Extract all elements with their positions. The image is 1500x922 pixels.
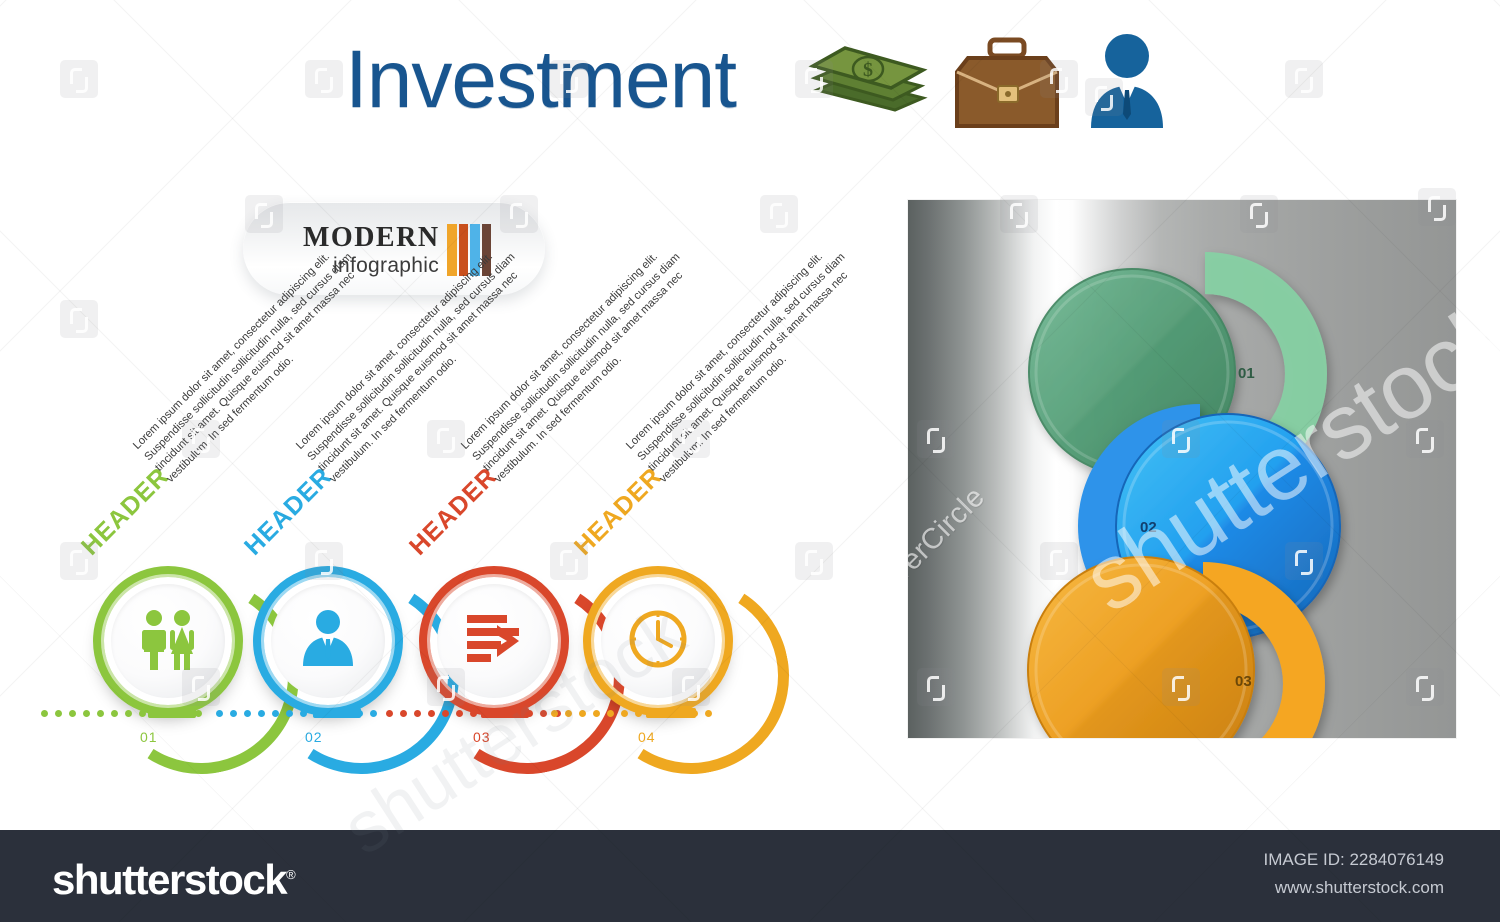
- step-dash-04: [646, 708, 696, 718]
- shutterstock-logo-text: shutterstock: [52, 856, 286, 903]
- businessman-avatar-icon: [297, 608, 359, 675]
- shutterstock-watermark-badge: [60, 300, 98, 338]
- shutterstock-watermark-badge: [760, 195, 798, 233]
- step-dotted-line-03: [386, 709, 561, 718]
- step-header-01: HEADER: [77, 463, 174, 560]
- connector-dot: [55, 710, 62, 717]
- shutterstock-url[interactable]: www.shutterstock.com: [1144, 878, 1444, 898]
- connector-dot: [216, 710, 223, 717]
- connector-dot: [386, 710, 393, 717]
- connector-dot: [414, 710, 421, 717]
- connector-dot: [244, 710, 251, 717]
- connector-dot: [125, 710, 132, 717]
- shutterstock-watermark-badge: [1285, 60, 1323, 98]
- connector-dot: [111, 710, 118, 717]
- connector-dot: [593, 710, 600, 717]
- connector-dot: [370, 710, 377, 717]
- step-text-block-04: HEADERLorem ipsum dolor sit amet, consec…: [570, 463, 667, 560]
- panel-number-02: 02: [1140, 519, 1157, 536]
- step-number-01: 01: [140, 729, 158, 745]
- shutterstock-logo[interactable]: shutterstock®: [52, 856, 294, 904]
- connector-dot: [230, 710, 237, 717]
- connector-dot: [635, 710, 642, 717]
- connector-dot: [442, 710, 449, 717]
- connector-dot: [579, 710, 586, 717]
- step-icon-disc-04: [601, 584, 715, 698]
- image-id-label: IMAGE ID: 2284076149: [1144, 850, 1444, 870]
- step-number-03: 03: [473, 729, 491, 745]
- money-stack-icon: $: [813, 48, 923, 110]
- connector-dot: [139, 710, 146, 717]
- connector-dot: [400, 710, 407, 717]
- panel-number-03: 03: [1235, 673, 1252, 690]
- clock-icon: [627, 608, 689, 675]
- panel-number-01: 01: [1238, 365, 1255, 382]
- connector-dot: [41, 710, 48, 717]
- businessman-icon: [1091, 34, 1163, 128]
- page-title: Investment: [345, 33, 736, 127]
- step-text-block-03: HEADERLorem ipsum dolor sit amet, consec…: [405, 463, 502, 560]
- connector-dot: [300, 710, 307, 717]
- connector-dot: [258, 710, 265, 717]
- footer-bar: shutterstock® IMAGE ID: 2284076149 www.s…: [0, 830, 1500, 922]
- step-text-block-02: HEADERLorem ipsum dolor sit amet, consec…: [240, 463, 337, 560]
- svg-text:$: $: [863, 59, 873, 81]
- step-number-04: 04: [638, 729, 656, 745]
- connector-dot: [551, 710, 558, 717]
- step-icon-disc-03: [437, 584, 551, 698]
- step-ring-04[interactable]: [583, 566, 733, 716]
- connector-dot: [607, 710, 614, 717]
- registered-mark: ®: [286, 867, 294, 882]
- shutterstock-watermark-badge: [305, 60, 343, 98]
- step-number-02: 02: [305, 729, 323, 745]
- step-ring-02[interactable]: [253, 566, 403, 716]
- shutterstock-watermark-badge: [427, 420, 465, 458]
- connector-dot: [69, 710, 76, 717]
- briefcase-icon: [957, 40, 1057, 126]
- connector-dot: [540, 710, 547, 717]
- header-icon-group: $: [805, 28, 1205, 138]
- connector-dot: [456, 710, 463, 717]
- step-header-03: HEADER: [405, 463, 502, 560]
- step-dash-03: [481, 708, 529, 718]
- connector-dot: [286, 710, 293, 717]
- step-icon-disc-02: [271, 584, 385, 698]
- step-header-02: HEADER: [240, 463, 337, 560]
- badge-bar-1: [447, 224, 457, 276]
- step-ring-03[interactable]: [419, 566, 569, 716]
- bar-chart-icon: [463, 611, 525, 672]
- connector-dot: [705, 710, 712, 717]
- connector-dot: [621, 710, 628, 717]
- infographic-canvas: Investment $: [0, 0, 1500, 922]
- step-text-block-01: HEADERLorem ipsum dolor sit amet, consec…: [77, 463, 174, 560]
- step-icon-disc-01: [111, 584, 225, 698]
- connector-dot: [565, 710, 572, 717]
- connector-dot: [97, 710, 104, 717]
- step-dash-01: [148, 708, 196, 718]
- connector-dot: [272, 710, 279, 717]
- step-header-04: HEADER: [570, 463, 667, 560]
- silver-panel: SilverCircle: [908, 200, 1456, 738]
- connector-dot: [470, 710, 477, 717]
- connector-dot: [428, 710, 435, 717]
- family-couple-icon: [136, 608, 200, 675]
- shutterstock-watermark-badge: [60, 60, 98, 98]
- connector-dot: [83, 710, 90, 717]
- step-ring-01[interactable]: [93, 566, 243, 716]
- connector-dot: [195, 710, 202, 717]
- step-dash-02: [313, 708, 361, 718]
- shutterstock-watermark-badge: [795, 542, 833, 580]
